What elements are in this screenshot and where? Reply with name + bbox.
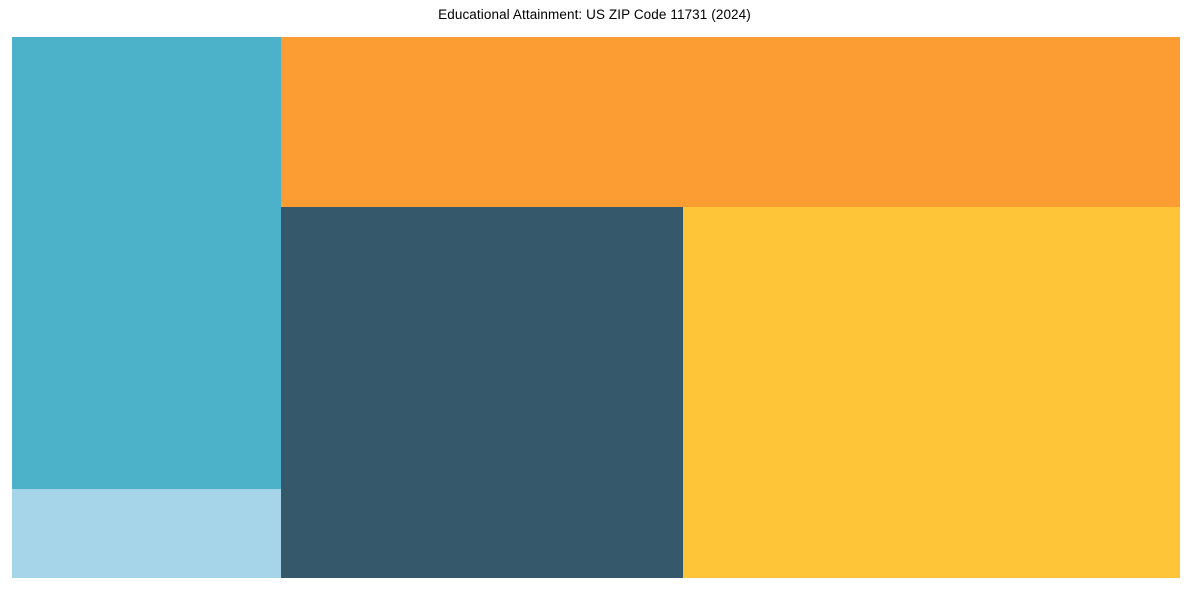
tile-graduate-or-professional-degree[interactable]: Graduate or professional degree [12,37,281,489]
tile-bachelors-degree[interactable]: Bachelor's degree [683,207,1180,578]
chart-title: Educational Attainment: US ZIP Code 1173… [0,7,1189,23]
tile-less-than-high-school-diploma[interactable]: Less than high school diploma [12,489,281,578]
tile-high-school-graduate[interactable]: High school graduate (includes equivalen… [281,37,1180,207]
tile-some-college-no-degree[interactable]: Some college, no degree [281,207,683,578]
treemap-figure: Educational Attainment: US ZIP Code 1173… [0,0,1189,590]
treemap-plot-area: Graduate or professional degreeLess than… [12,37,1180,578]
